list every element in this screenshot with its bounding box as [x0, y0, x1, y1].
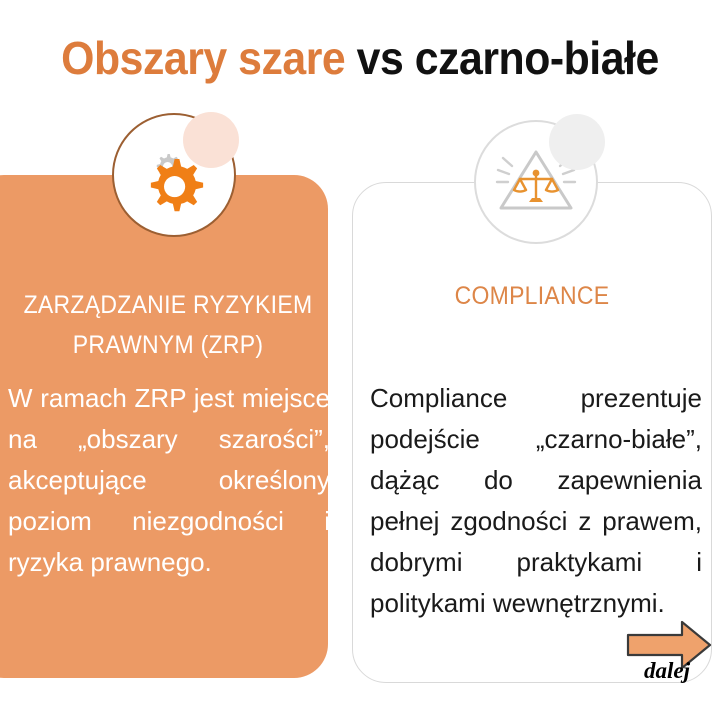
page-title: Obszary szare vs czarno-białe	[25, 30, 695, 86]
peach-accent-circle	[183, 112, 239, 168]
card-body-compliance: Compliance prezentuje podejście „czarno-…	[370, 378, 702, 624]
next-button[interactable]: dalej	[626, 619, 712, 685]
card-heading-zrp: ZARZĄDZANIE RYZYKIEM PRAWNYM (ZRP)	[13, 285, 322, 365]
card-body-zrp: W ramach ZRP jest miejsce na „obszary sz…	[8, 378, 330, 583]
next-button-label[interactable]: dalej	[632, 658, 702, 684]
card-heading-compliance: COMPLIANCE	[366, 276, 697, 316]
page-title-highlight: Obszary szare	[61, 32, 345, 84]
page-title-rest: vs czarno-białe	[345, 32, 659, 84]
slide-root: Obszary szare vs czarno-białe	[0, 0, 720, 720]
grey-accent-circle	[549, 114, 605, 170]
